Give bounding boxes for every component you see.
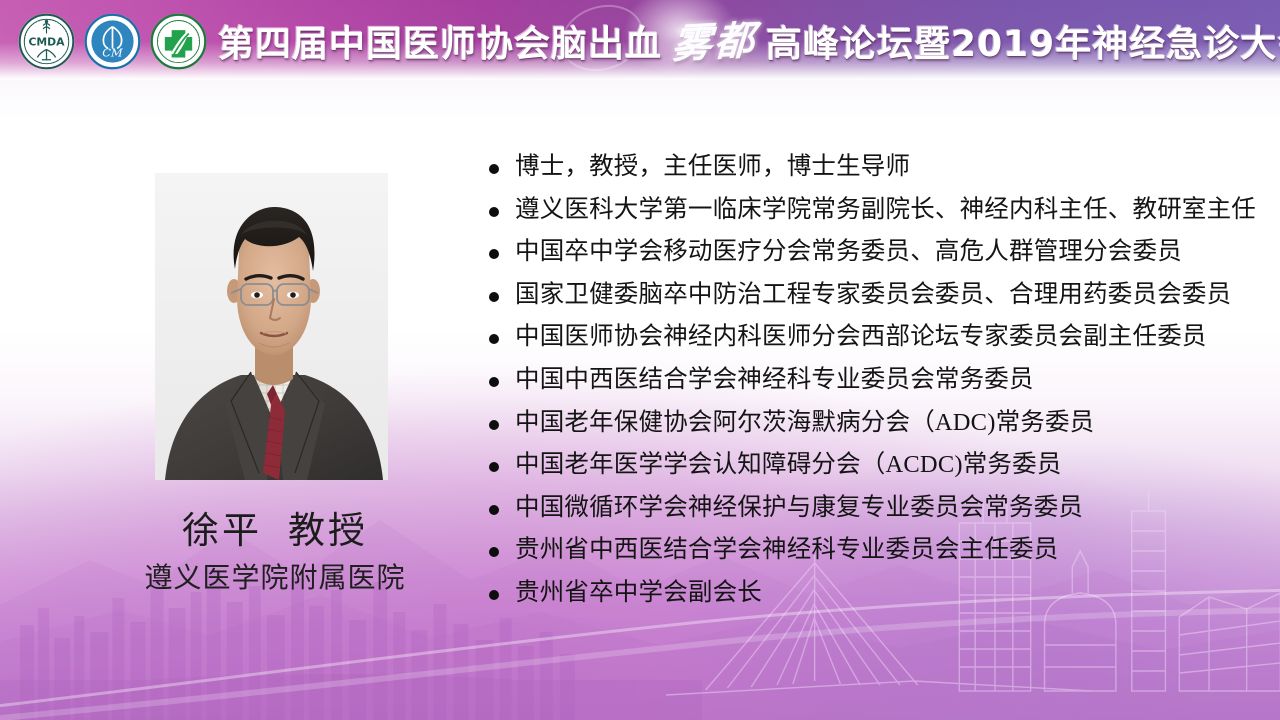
conference-title-calligraphy: 雾都 (660, 7, 767, 70)
conference-title-part1: 第四届中国医师协会脑出血 (218, 15, 662, 67)
credential-text: 中国中西医结合学会神经科专业委员会常务委员 (515, 365, 1034, 395)
credential-text: 国家卫健委脑卒中防治工程专家委员会委员、合理用药委员会委员 (515, 280, 1231, 310)
bullet-icon (489, 590, 499, 600)
bullet-icon (489, 164, 499, 174)
bullet-icon (489, 334, 499, 344)
list-item: 中国老年医学学会认知障碍分会（ACDC)常务委员 (489, 450, 1259, 493)
credential-text: 中国微循环学会神经保护与康复专业委员会常务委员 (515, 493, 1083, 523)
speaker-name-text: 徐平 (182, 511, 262, 552)
green-cross-logo (150, 13, 207, 70)
list-item: 中国微循环学会神经保护与康复专业委员会常务委员 (489, 493, 1259, 536)
speaker-title-text: 教授 (288, 511, 368, 552)
list-item: 贵州省中西医结合学会神经科专业委员会主任委员 (489, 535, 1259, 578)
list-item: 国家卫健委脑卒中防治工程专家委员会委员、合理用药委员会委员 (489, 280, 1259, 323)
credential-text: 遵义医科大学第一临床学院常务副院长、神经内科主任、教研室主任 (515, 195, 1256, 225)
speaker-photo (155, 173, 388, 480)
slide-header: CMDA CM (0, 0, 1280, 80)
speaker-organization: 遵义医学院附属医院 (60, 556, 490, 596)
credential-text: 博士，教授，主任医师，博士生导师 (515, 152, 910, 182)
bullet-icon (489, 462, 499, 472)
credentials-list: 博士，教授，主任医师，博士生导师 遵义医科大学第一临床学院常务副院长、神经内科主… (489, 152, 1259, 621)
bullet-icon (489, 547, 499, 557)
organization-logos: CMDA CM (18, 13, 207, 70)
credential-text: 中国老年保健协会阿尔茨海默病分会（ADC)常务委员 (515, 408, 1094, 438)
credential-text: 中国老年医学学会认知障碍分会（ACDC)常务委员 (515, 450, 1062, 480)
list-item: 中国老年保健协会阿尔茨海默病分会（ADC)常务委员 (489, 408, 1259, 451)
conference-title: 第四届中国医师协会脑出血 雾都 高峰论坛暨2019年神经急诊大会 (218, 10, 1280, 68)
credential-text: 贵州省卒中学会副会长 (515, 578, 762, 608)
list-item: 中国中西医结合学会神经科专业委员会常务委员 (489, 365, 1259, 408)
credential-text: 贵州省中西医结合学会神经科专业委员会主任委员 (515, 535, 1058, 565)
cm-logo-text: CM (102, 45, 123, 59)
bullet-icon (489, 377, 499, 387)
bullet-icon (489, 207, 499, 217)
credential-text: 中国卒中学会移动医疗分会常务委员、高危人群管理分会委员 (515, 237, 1182, 267)
bullet-icon (489, 505, 499, 515)
list-item: 中国卒中学会移动医疗分会常务委员、高危人群管理分会委员 (489, 237, 1259, 280)
speaker-name: 徐平教授 (60, 500, 490, 554)
bullet-icon (489, 249, 499, 259)
cm-logo: CM (84, 13, 141, 70)
bullet-icon (489, 420, 499, 430)
conference-title-part2: 高峰论坛暨2019年神经急诊大会 (766, 15, 1280, 67)
cmda-logo-text: CMDA (28, 35, 65, 48)
cmda-logo: CMDA (18, 13, 75, 70)
list-item: 遵义医科大学第一临床学院常务副院长、神经内科主任、教研室主任 (489, 195, 1259, 238)
presentation-slide: CMDA CM (0, 0, 1280, 720)
list-item: 中国医师协会神经内科医师分会西部论坛专家委员会副主任委员 (489, 322, 1259, 365)
credential-text: 中国医师协会神经内科医师分会西部论坛专家委员会副主任委员 (515, 322, 1207, 352)
list-item: 博士，教授，主任医师，博士生导师 (489, 152, 1259, 195)
bullet-icon (489, 292, 499, 302)
list-item: 贵州省卒中学会副会长 (489, 578, 1259, 621)
